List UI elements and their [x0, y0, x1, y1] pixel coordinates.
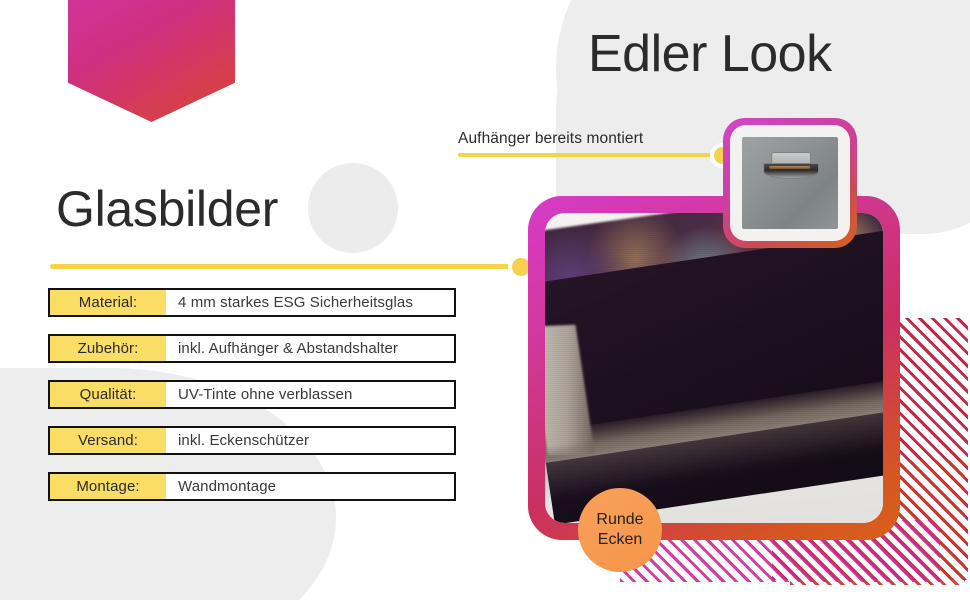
hanger-plate: [742, 137, 838, 229]
badge-line-1: Runde: [596, 510, 643, 530]
table-row: Material: 4 mm starkes ESG Sicherheitsgl…: [48, 288, 456, 317]
connector-line: [50, 264, 520, 269]
spec-key: Montage:: [50, 474, 166, 499]
spec-value: 4 mm starkes ESG Sicherheitsglas: [166, 290, 454, 315]
callout-hanger: Aufhänger bereits montiert: [458, 130, 738, 148]
rounded-corners-badge: Runde Ecken: [578, 488, 662, 572]
connector-line: [458, 153, 726, 157]
style-title: Edler Look: [588, 24, 832, 84]
spec-table: Material: 4 mm starkes ESG Sicherheitsgl…: [48, 288, 456, 518]
table-row: Montage: Wandmontage: [48, 472, 456, 501]
table-row: Versand: inkl. Eckenschützer: [48, 426, 456, 455]
spec-key: Material:: [50, 290, 166, 315]
page-title: Glasbilder: [56, 180, 278, 238]
spec-key: Qualität:: [50, 382, 166, 407]
infographic-stage: Edler Look Glasbilder Aufhänger bereits …: [0, 0, 970, 600]
spec-key: Versand:: [50, 428, 166, 453]
badge-line-2: Ecken: [598, 530, 642, 550]
hanger-detail-card: [723, 118, 857, 248]
spec-value: Wandmontage: [166, 474, 454, 499]
hanger-bracket-slot: [770, 166, 811, 170]
brand-ribbon-shape: [68, 0, 235, 122]
decorative-circle-behind-title: [308, 163, 398, 253]
spec-key: Zubehör:: [50, 336, 166, 361]
connector-hanger-to-card: [458, 147, 740, 165]
hanger-card-inner: [730, 125, 850, 241]
product-photo-frame: [528, 196, 900, 540]
table-row: Zubehör: inkl. Aufhänger & Abstandshalte…: [48, 334, 456, 363]
product-photo: [545, 213, 883, 523]
photo-grain-overlay: [545, 213, 883, 523]
callout-hanger-label: Aufhänger bereits montiert: [458, 130, 738, 148]
spec-value: inkl. Aufhänger & Abstandshalter: [166, 336, 454, 361]
table-row: Qualität: UV-Tinte ohne verblassen: [48, 380, 456, 409]
spec-value: UV-Tinte ohne verblassen: [166, 382, 454, 407]
wall-hanger-bracket-icon: [763, 152, 817, 178]
spec-value: inkl. Eckenschützer: [166, 428, 454, 453]
connector-title-to-frame: [50, 258, 536, 276]
